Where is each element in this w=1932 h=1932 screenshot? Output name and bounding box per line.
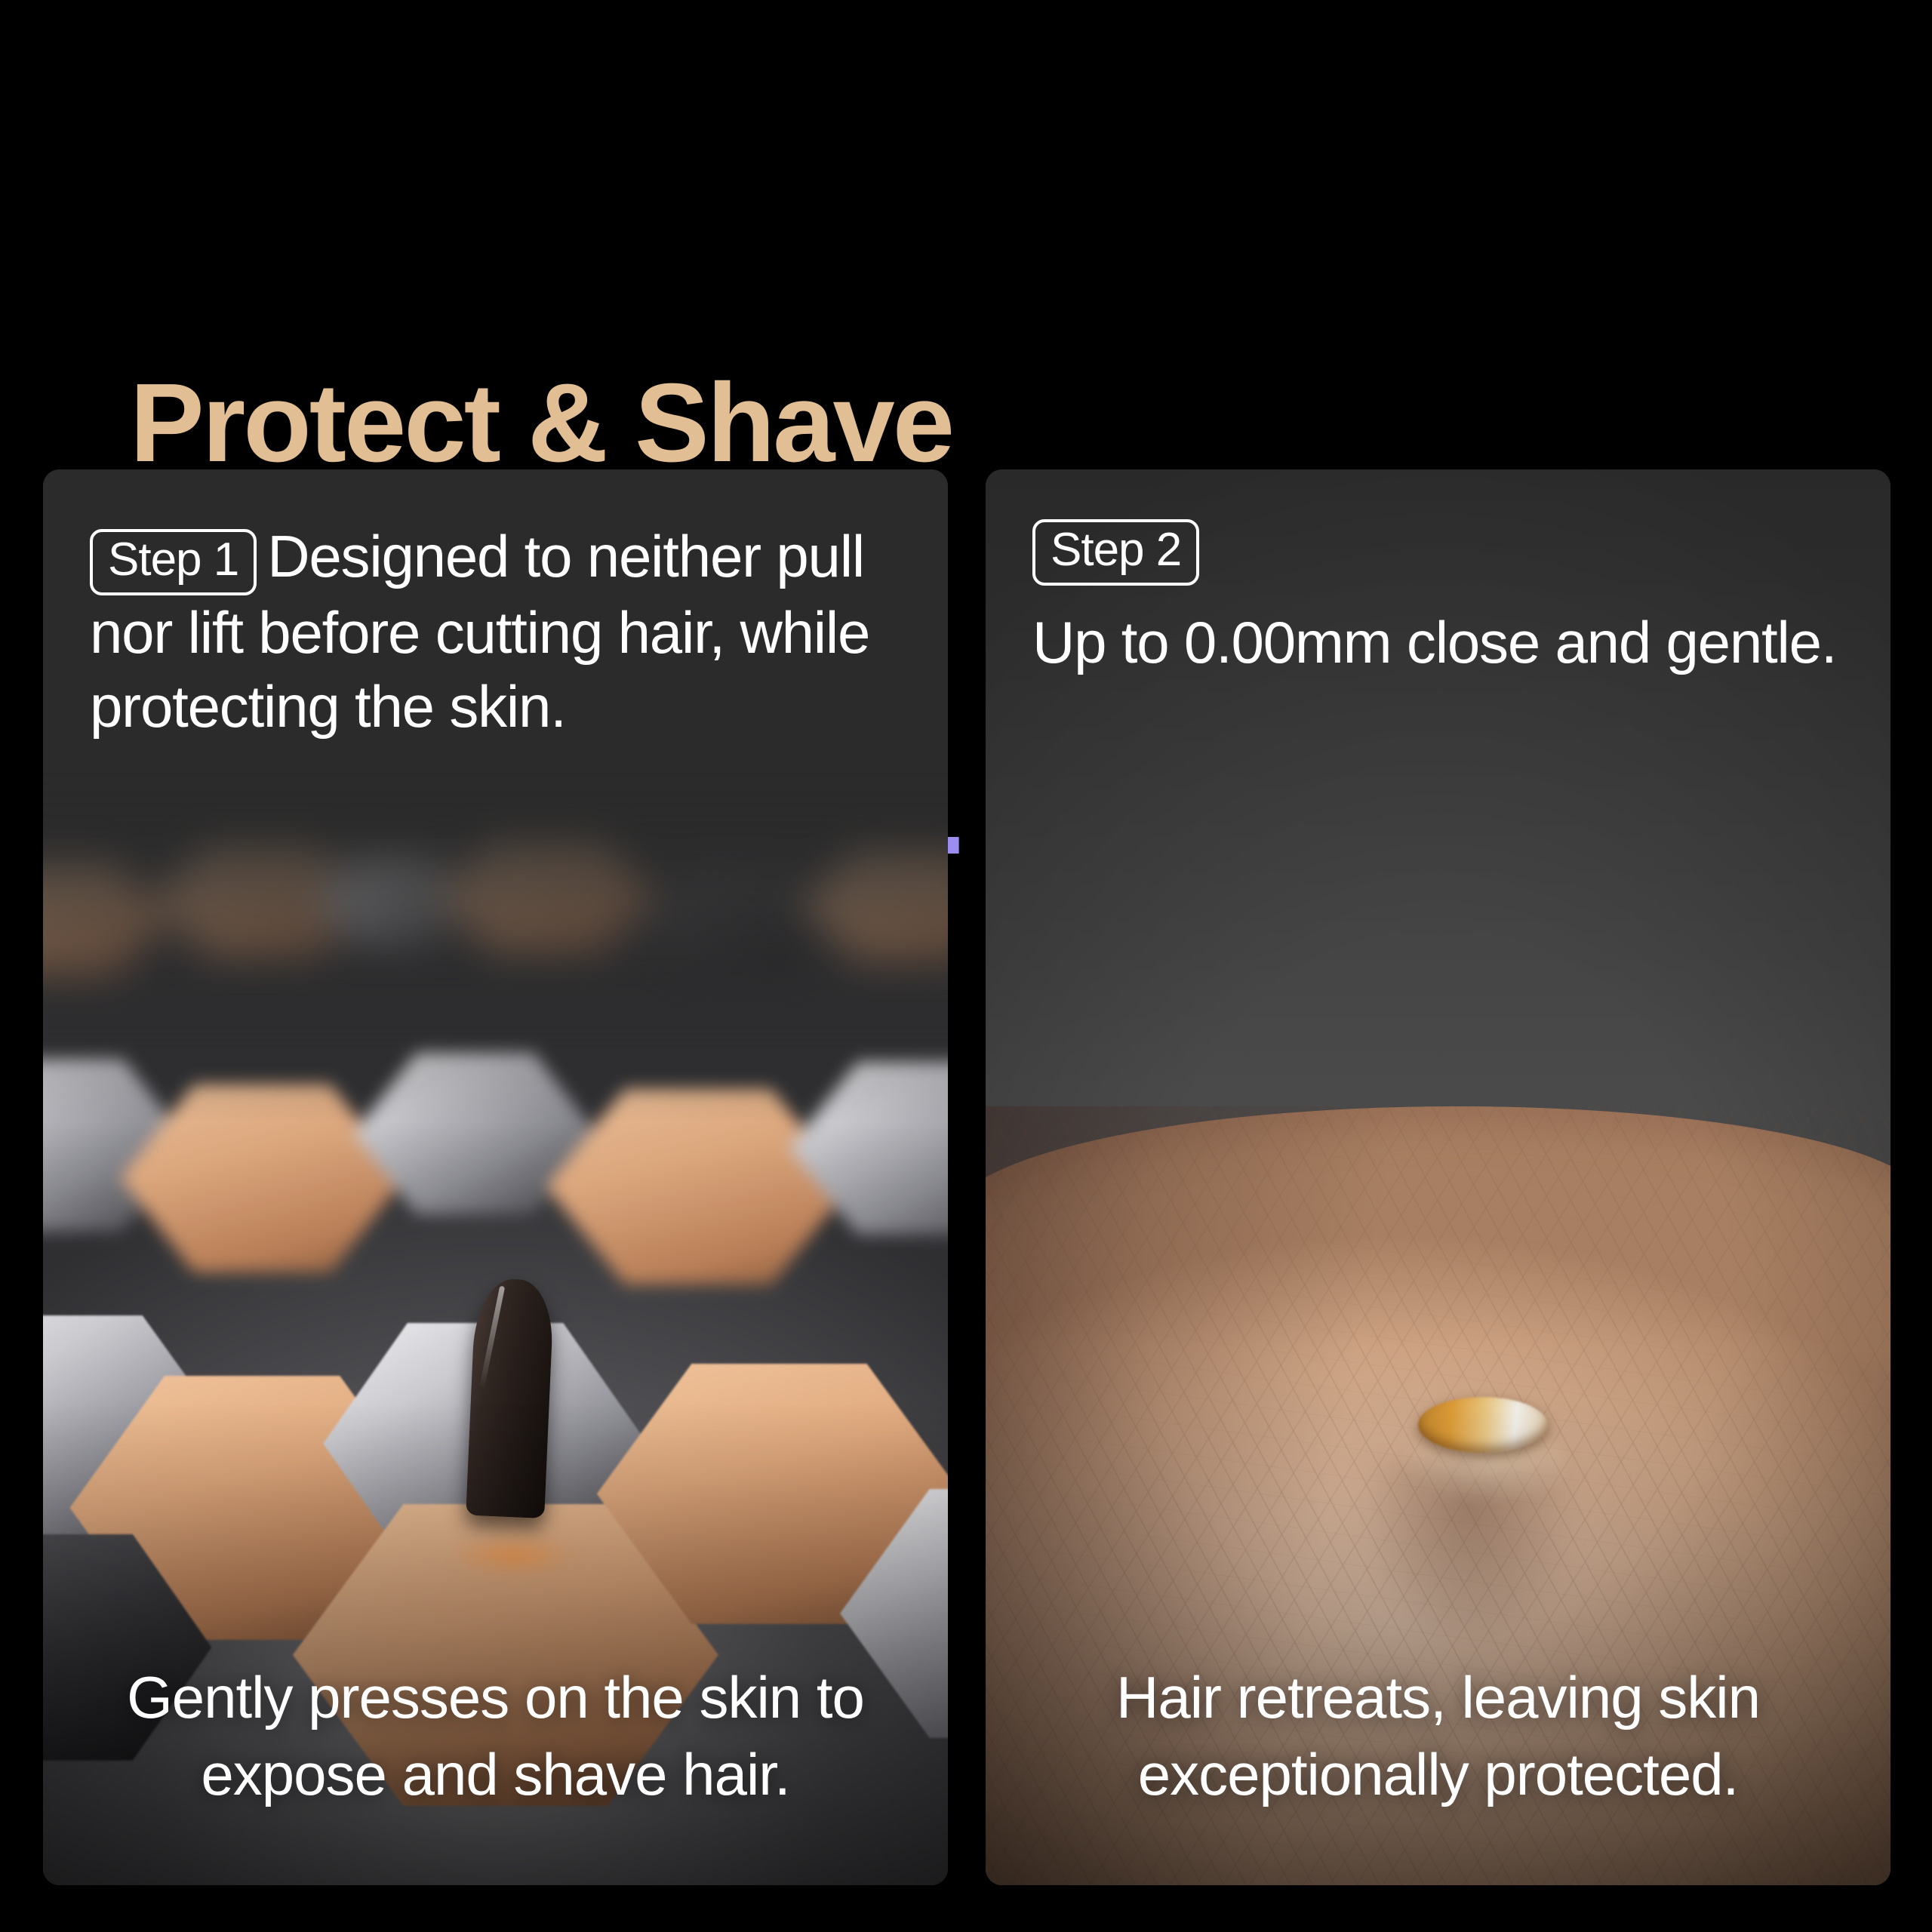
step-badge-2: Step 2 <box>1032 519 1199 586</box>
steps-container: Step 1Designed to neither pull nor lift … <box>43 469 1893 1885</box>
step-2-caption: Hair retreats, leaving skin exceptionall… <box>986 1660 1890 1813</box>
step-1-header: Step 1Designed to neither pull nor lift … <box>43 469 948 744</box>
art-bottom-fade <box>43 1404 948 1885</box>
step-badge-1: Step 1 <box>90 529 257 595</box>
step-2-header: Step 2 Up to 0.00mm close and gentle. <box>986 469 1890 679</box>
step-1-caption: Gently presses on the skin to expose and… <box>43 1660 948 1813</box>
step-2-heading: Up to 0.00mm close and gentle. <box>1032 605 1844 679</box>
step-card-1: Step 1Designed to neither pull nor lift … <box>43 469 948 1885</box>
step-card-2: Step 2 Up to 0.00mm close and gentle. Ha… <box>986 469 1890 1885</box>
